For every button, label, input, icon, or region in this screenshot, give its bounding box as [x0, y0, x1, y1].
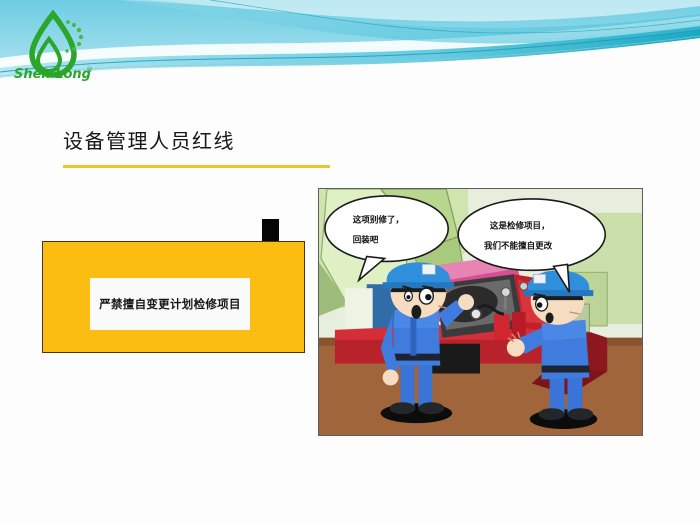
right-bubble-line-2: 我们不能擅自更改 — [484, 241, 553, 252]
title-block: 设备管理人员红线 — [63, 128, 363, 168]
shen-long-logo: Shen Long ® — [8, 6, 100, 86]
left-bubble-line-2: 回装吧 — [353, 235, 379, 246]
slide-canvas: Shen Long ® 设备管理人员红线 严禁擅自变更计划检修项目 — [0, 0, 700, 525]
right-bubble-line-1: 这是检修项目， — [490, 221, 550, 232]
logo-wordmark: Shen Long — [14, 67, 91, 82]
title-underline-rule — [63, 165, 330, 168]
water-drop-logo-icon — [32, 14, 83, 75]
logo-trademark-symbol: ® — [86, 66, 93, 74]
left-bubble-line-1: 这项别修了， — [353, 215, 404, 226]
callout-message: 严禁擅自变更计划检修项目 — [93, 296, 247, 312]
callout-inner-panel: 严禁擅自变更计划检修项目 — [90, 278, 250, 330]
cartoon-illustration: 这项别修了， 回装吧 这是检修项目， 我们不能擅自更改 — [318, 188, 643, 436]
page-title: 设备管理人员红线 — [63, 128, 363, 154]
header-swoosh-decoration — [0, 0, 700, 96]
